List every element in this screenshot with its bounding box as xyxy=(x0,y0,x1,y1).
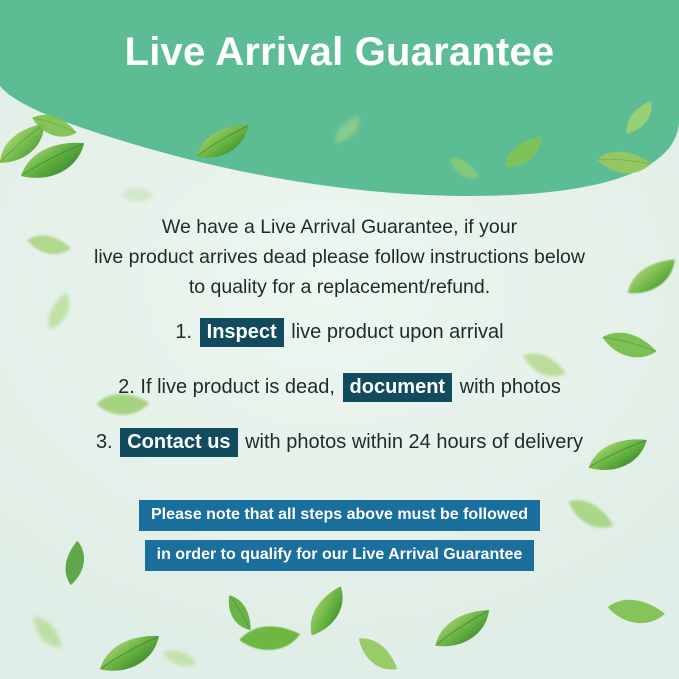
intro-line-2: live product arrives dead please follow … xyxy=(60,242,619,272)
intro-paragraph: We have a Live Arrival Guarantee, if you… xyxy=(60,212,619,302)
note-bar-line-2: in order to qualify for our Live Arrival… xyxy=(145,540,535,571)
step-highlight-inspect: Inspect xyxy=(200,318,284,347)
step-item-2: 2. If live product is dead, document wit… xyxy=(30,373,649,402)
step-number-1: 1. xyxy=(175,321,192,343)
poster-content: We have a Live Arrival Guarantee, if you… xyxy=(0,0,679,679)
step-text-after-1: live product upon arrival xyxy=(291,321,503,343)
step-highlight-contact-us: Contact us xyxy=(120,428,237,457)
step-item-3: 3. Contact us with photos within 24 hour… xyxy=(30,428,649,457)
live-arrival-guarantee-poster: Live Arrival Guarantee xyxy=(0,0,679,679)
step-number-2: 2. xyxy=(118,376,135,398)
step-highlight-document: document xyxy=(343,373,453,402)
steps-list: 1. Inspect live product upon arrival 2. … xyxy=(30,318,649,483)
step-number-3: 3. xyxy=(96,431,113,453)
note-bar-line-1: Please note that all steps above must be… xyxy=(139,500,540,531)
footer-notes: Please note that all steps above must be… xyxy=(0,500,679,580)
step-item-1: 1. Inspect live product upon arrival xyxy=(30,318,649,347)
step-text-after-3: with photos within 24 hours of delivery xyxy=(245,431,583,453)
intro-line-3: to quality for a replacement/refund. xyxy=(60,272,619,302)
step-text-after-2: with photos xyxy=(460,376,561,398)
intro-line-1: We have a Live Arrival Guarantee, if you… xyxy=(60,212,619,242)
step-text-before-2: If live product is dead, xyxy=(140,376,335,398)
